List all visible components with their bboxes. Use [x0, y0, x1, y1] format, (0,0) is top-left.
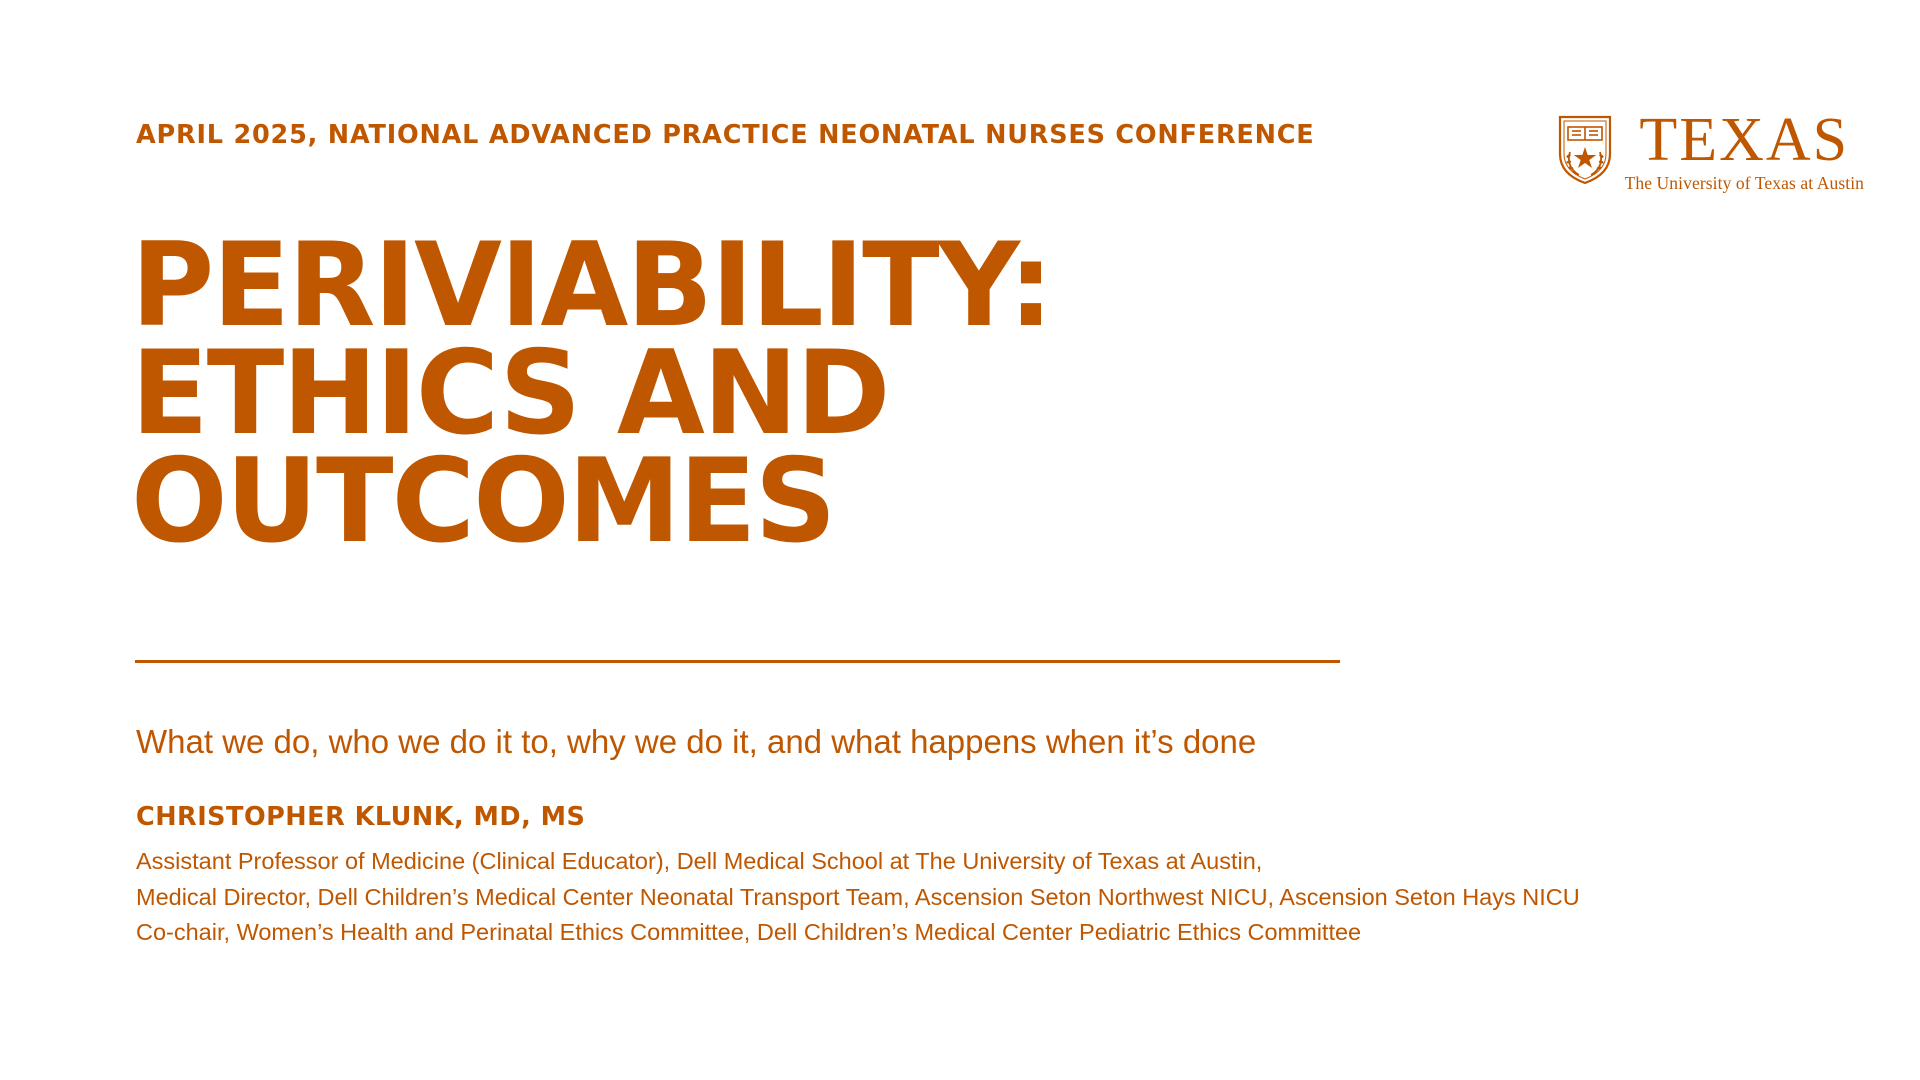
page-title: Periviability: Ethics and Outcomes — [131, 232, 1331, 556]
ut-austin-logo: TEXAS The University of Texas at Austin — [1557, 112, 1864, 208]
presenter-affiliation-3: Co-chair, Women’s Health and Perinatal E… — [136, 915, 1876, 951]
ut-wordmark-group: TEXAS The University of Texas at Austin — [1625, 112, 1864, 194]
conference-eyebrow: April 2025, National Advanced Practice N… — [136, 120, 1315, 150]
presenter-affiliation-1: Assistant Professor of Medicine (Clinica… — [136, 844, 1876, 880]
title-line-1: Periviability: — [131, 232, 1307, 340]
presenter-block: Christopher Klunk, MD, MS Assistant Prof… — [136, 802, 1876, 951]
title-slide: April 2025, National Advanced Practice N… — [0, 0, 1920, 1080]
ut-shield-icon — [1557, 114, 1613, 186]
title-line-2: Ethics and — [131, 340, 1307, 448]
slide-subtitle: What we do, who we do it to, why we do i… — [136, 722, 1256, 762]
slide-header: April 2025, National Advanced Practice N… — [136, 112, 1864, 208]
title-line-3: Outcomes — [131, 448, 1307, 556]
title-divider — [135, 660, 1340, 663]
presenter-name: Christopher Klunk, MD, MS — [136, 802, 1876, 832]
presenter-affiliation-2: Medical Director, Dell Children’s Medica… — [136, 880, 1876, 916]
ut-tagline: The University of Texas at Austin — [1625, 173, 1864, 194]
ut-wordmark-texas: TEXAS — [1639, 112, 1849, 169]
